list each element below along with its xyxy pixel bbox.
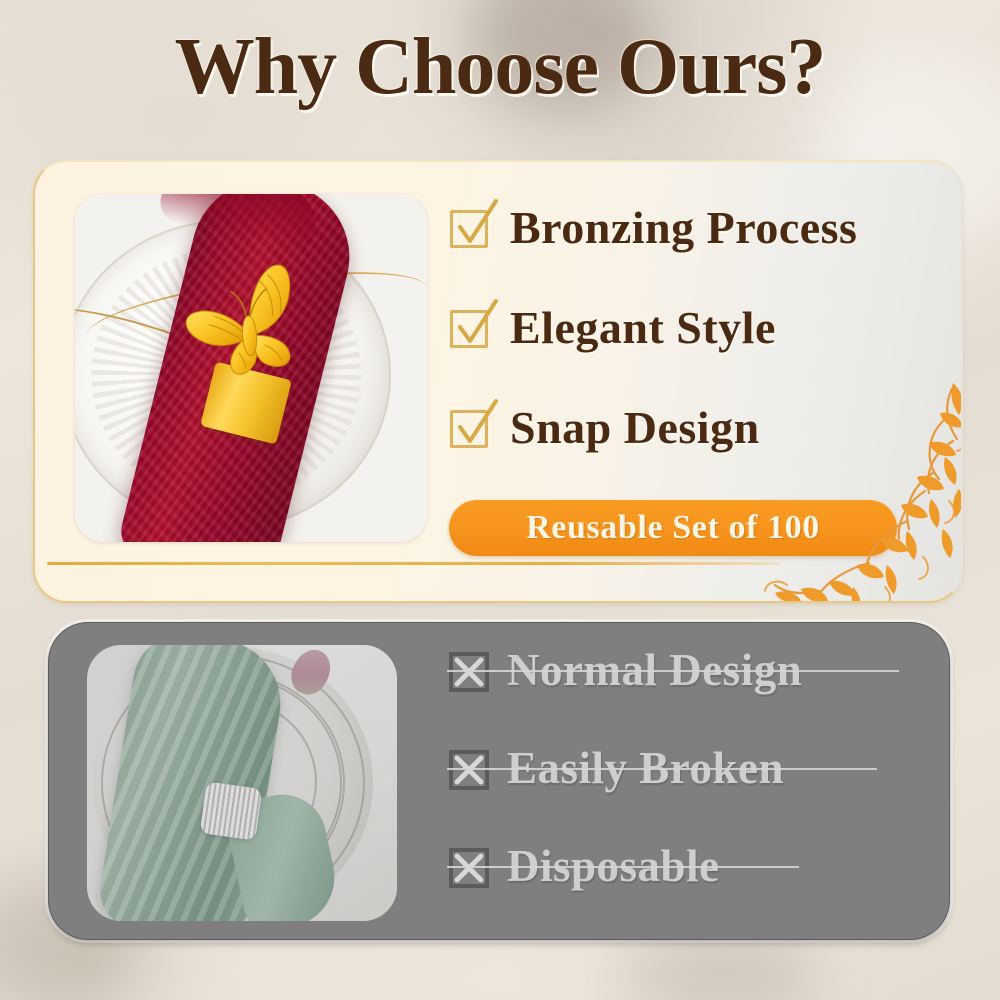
cons-list-item[interactable]: Easily Broken [447, 739, 917, 797]
pros-list-item[interactable]: Elegant Style [448, 296, 918, 358]
strikethrough-line [447, 670, 899, 672]
cons-panel: Normal Design Easily Broken Disposable [48, 622, 950, 940]
rhinestone-napkin-ring [200, 781, 263, 840]
check-box-icon [448, 405, 492, 449]
pros-list-item-label: Snap Design [510, 401, 760, 454]
page-title: Why Choose Ours? [0, 22, 1000, 113]
gold-divider-line [47, 562, 781, 565]
pros-list-item-label: Bronzing Process [510, 201, 857, 254]
cons-list-item[interactable]: Normal Design [447, 641, 917, 699]
floral-flourish-icon [757, 381, 963, 603]
cons-feature-list: Normal Design Easily Broken Disposable [447, 641, 917, 935]
check-box-icon [448, 305, 492, 349]
pros-product-image [75, 194, 427, 542]
check-box-icon [448, 205, 492, 249]
gold-butterfly-icon [162, 247, 332, 408]
pros-panel: Bronzing Process Elegant Style Snap Desi… [33, 160, 963, 603]
cons-product-image [87, 645, 397, 921]
pros-list-item-label: Elegant Style [510, 301, 776, 354]
cons-list-item[interactable]: Disposable [447, 837, 917, 895]
pros-list-item[interactable]: Bronzing Process [448, 196, 918, 258]
strikethrough-line [447, 768, 877, 770]
strikethrough-line [447, 866, 799, 868]
